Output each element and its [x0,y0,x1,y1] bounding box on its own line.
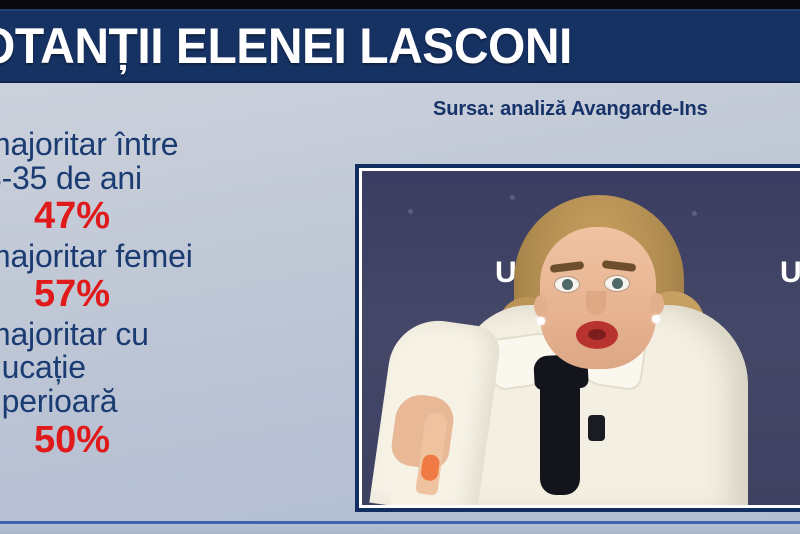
mouth-opening [588,329,606,340]
stat-label-age: majoritar între 8-35 de ani [0,128,345,195]
fingernail [420,454,440,482]
person-figure [362,171,800,505]
stats-column: majoritar între 8-35 de ani 47% majorita… [0,128,345,463]
earring-right [652,315,660,323]
photo-frame: USR. U [355,164,800,512]
stat-item-gender: majoritar femei 57% [0,240,345,316]
page-title: OTANȚII ELENEI LASCONI [0,21,572,71]
pupil-right [612,278,623,289]
title-banner: OTANȚII ELENEI LASCONI [0,9,800,83]
pupil-left [562,279,573,290]
stat-value-education: 50% [0,419,345,462]
nose [586,291,606,315]
news-graphic-screen: OTANȚII ELENEI LASCONI Sursa: analiză Av… [0,0,800,534]
ear-left [534,295,548,317]
lapel-microphone [588,415,605,441]
photo-woman-at-usr-podium: USR. U [362,171,800,505]
source-attribution: Sursa: analiză Avangarde-Ins [433,98,708,121]
ear-right [650,293,664,315]
index-finger [415,412,448,496]
stat-value-gender: 57% [0,273,345,316]
hand [389,392,456,471]
stat-label-gender: majoritar femei [0,240,345,274]
bottom-strip [0,524,800,534]
stat-item-age: majoritar între 8-35 de ani 47% [0,128,345,238]
stat-label-education: majoritar cu ducație uperioară [0,318,345,419]
top-letterbox-bar [0,0,800,9]
stat-item-education: majoritar cu ducație uperioară 50% [0,318,345,461]
stat-value-age: 47% [0,195,345,238]
earring-left [537,317,545,325]
necktie [540,369,580,495]
